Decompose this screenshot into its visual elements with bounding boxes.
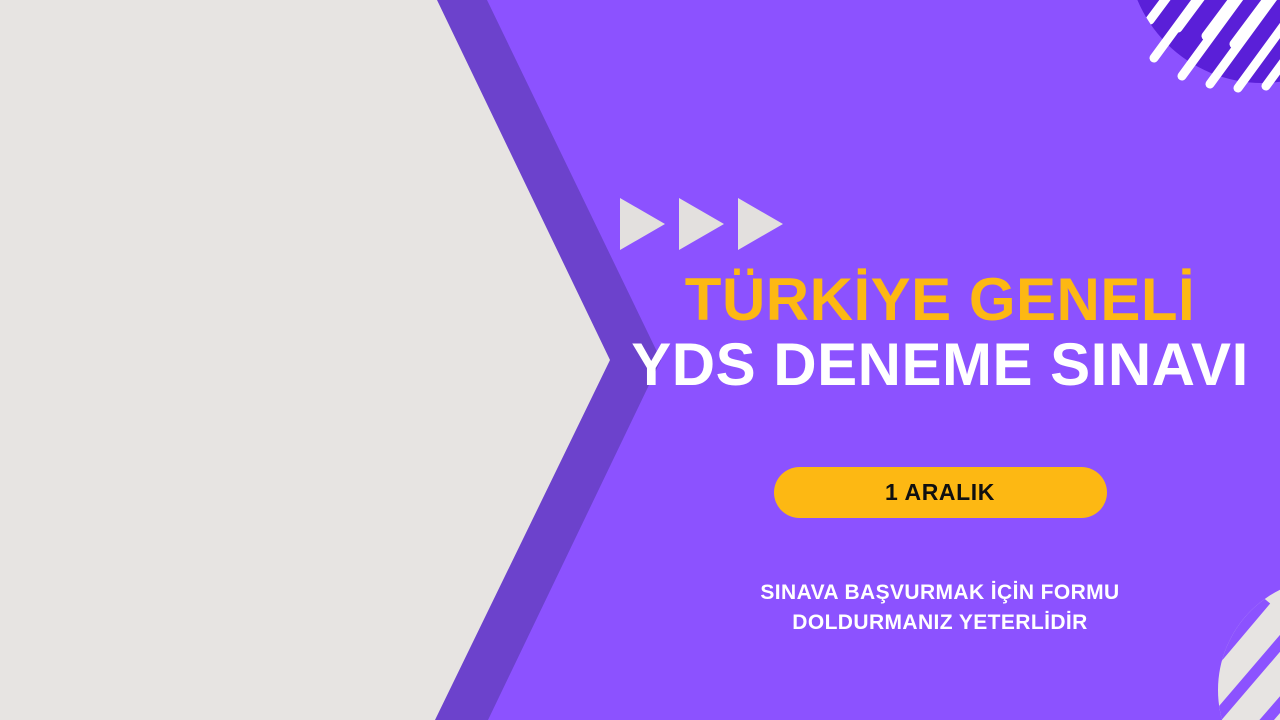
play-arrow-icon-2 [679,198,724,250]
poster-content: TÜRKİYE GENELİ YDS DENEME SINAVI 1 ARALI… [620,0,1280,720]
poster-canvas: TÜRKİYE GENELİ YDS DENEME SINAVI 1 ARALI… [0,0,1280,720]
subtitle-line-2: DOLDURMANIZ YETERLİDİR [620,608,1260,638]
play-arrow-icon-1 [620,198,665,250]
exam-date-badge[interactable]: 1 ARALIK [774,467,1107,518]
arrow-decoration-group [620,198,783,250]
title-line-secondary: YDS DENEME SINAVI [620,333,1260,398]
play-arrow-icon-3 [738,198,783,250]
title-line-primary: TÜRKİYE GENELİ [620,268,1260,333]
date-badge-container: 1 ARALIK [620,467,1260,518]
page-title: TÜRKİYE GENELİ YDS DENEME SINAVI [620,268,1260,398]
subtitle-line-1: SINAVA BAŞVURMAK İÇİN FORMU [620,578,1260,608]
subtitle-text: SINAVA BAŞVURMAK İÇİN FORMU DOLDURMANIZ … [620,578,1260,639]
